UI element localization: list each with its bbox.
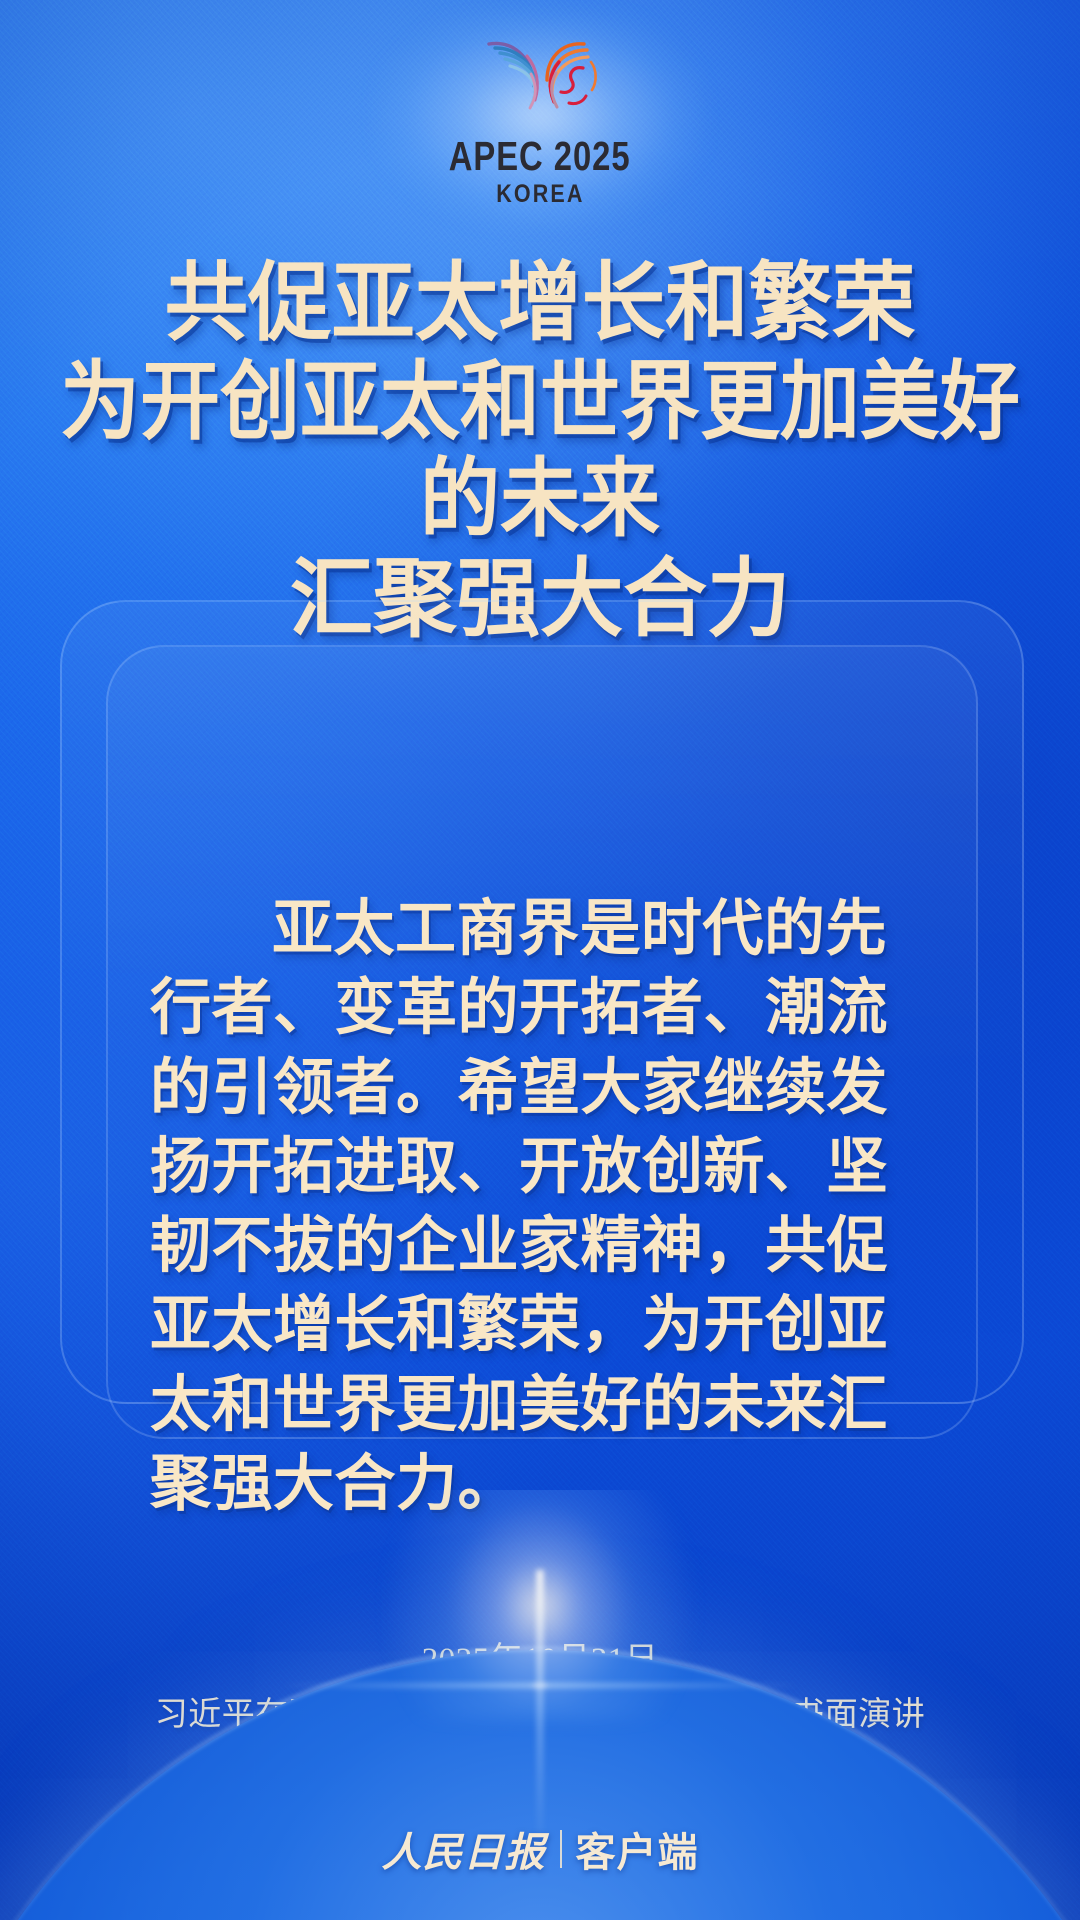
headline-line-1: 共促亚太增长和繁荣 <box>16 255 1064 352</box>
attribution-date: 2025年10月31日 <box>0 1638 1080 1683</box>
footer-brand-name: 人民日报 <box>382 1820 546 1878</box>
apec-emblem-icon <box>455 26 625 134</box>
footer-divider <box>560 1830 562 1868</box>
attribution: 2025年10月31日 习近平在亚太经合组织工商领导人峰会上的书面演讲 <box>0 1638 1080 1737</box>
attribution-source: 习近平在亚太经合组织工商领导人峰会上的书面演讲 <box>0 1693 1080 1738</box>
footer-app-name: 客户端 <box>576 1820 699 1878</box>
poster-root: APEC 2025 KOREA 共促亚太增长和繁荣 为开创亚太和世界更加美好的未… <box>0 0 1080 1920</box>
logo-title: APEC 2025 <box>449 136 631 177</box>
quote-text: 亚太工商界是时代的先行者、变革的开拓者、潮流的引领者。希望大家继续发扬开拓进取、… <box>150 890 940 1524</box>
footer-logo: 人民日报 客户端 <box>0 1820 1080 1878</box>
headline-line-2: 为开创亚太和世界更加美好的未来 <box>38 354 1042 548</box>
headline: 共促亚太增长和繁荣 为开创亚太和世界更加美好的未来 汇聚强大合力 <box>0 255 1080 648</box>
apec-logo-block: APEC 2025 KOREA <box>0 26 1080 207</box>
logo-subtitle: KOREA <box>496 182 584 207</box>
